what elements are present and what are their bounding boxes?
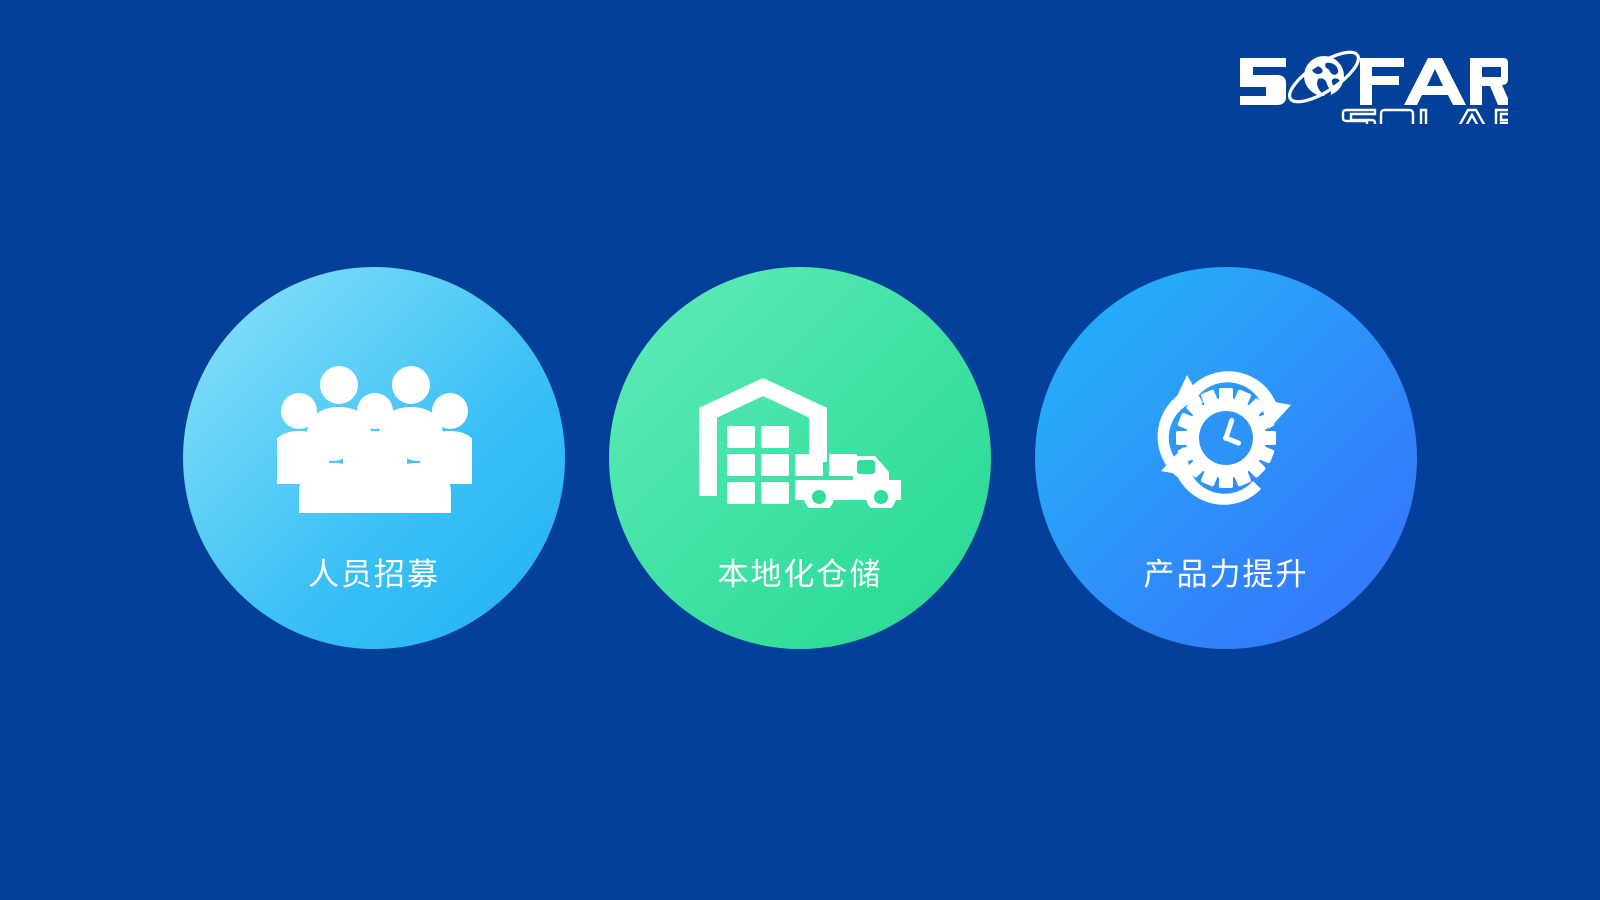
feature-circle-label: 产品力提升 xyxy=(1035,555,1417,595)
globe-orbit-icon xyxy=(1283,46,1365,111)
feature-circle-group: 人员招募 xyxy=(0,267,1600,649)
warehouse-truck-icon xyxy=(609,353,991,523)
feature-circle-product[interactable]: 产品力提升 xyxy=(1035,267,1417,649)
logo-wordmark-solar xyxy=(1343,110,1508,124)
feature-circle-warehousing[interactable]: 本地化仓储 xyxy=(609,267,991,649)
gear-clock-cycle-icon xyxy=(1035,353,1417,523)
logo-letters-far xyxy=(1360,58,1508,105)
people-group-icon xyxy=(183,353,565,523)
slide-canvas: 人员招募 xyxy=(0,0,1600,900)
feature-circle-label: 人员招募 xyxy=(183,555,565,595)
feature-circle-label: 本地化仓储 xyxy=(609,555,991,595)
logo-letter-s xyxy=(1240,58,1286,105)
brand-logo xyxy=(1240,46,1508,124)
feature-circle-recruitment[interactable]: 人员招募 xyxy=(183,267,565,649)
